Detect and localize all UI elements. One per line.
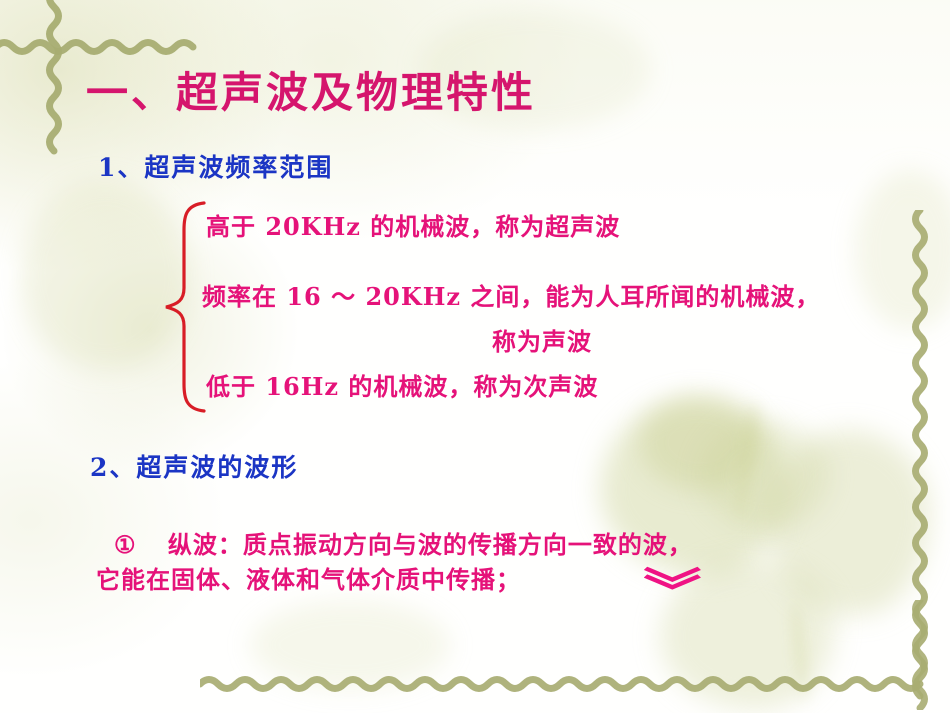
wave-item-text-1: 纵波：质点振动方向与波的传播方向一致的波， [168, 530, 693, 559]
watermark-petal-6 [855, 170, 950, 330]
watermark-petal-3 [250, 600, 450, 690]
double-chevron-down-icon [644, 566, 703, 592]
section-heading-1: 1、超声波频率范围 [98, 155, 333, 180]
watermark-petal-2 [700, 420, 830, 530]
section-heading-2: 2、超声波的波形 [90, 455, 298, 480]
corner-wavy-tail-icon [898, 600, 942, 710]
definition-line-ultrasound: 高于 20KHz 的机械波，称为超声波 [206, 215, 620, 239]
definition-line-infrasound: 低于 16Hz 的机械波，称为次声波 [206, 375, 598, 399]
definition-line-audible: 频率在 16 ～ 20KHz 之间，能为人耳所闻的机械波， [202, 285, 820, 309]
wave-item-line-2: 它能在固体、液体和气体介质中传播； [96, 568, 521, 592]
definition-line-audible-cont: 称为声波 [492, 330, 592, 354]
slide-canvas: 一、超声波及物理特性 1、超声波频率范围 高于 20KHz 的机械波，称为超声波… [0, 0, 950, 713]
left-wavy-line-icon [32, 0, 76, 159]
slide-title: 一、超声波及物理特性 [86, 72, 536, 114]
top-wavy-line-icon [0, 26, 200, 66]
wave-item-line-1: ① 纵波：质点振动方向与波的传播方向一致的波， [114, 533, 693, 557]
item-marker-circled-one: ① [114, 530, 137, 559]
